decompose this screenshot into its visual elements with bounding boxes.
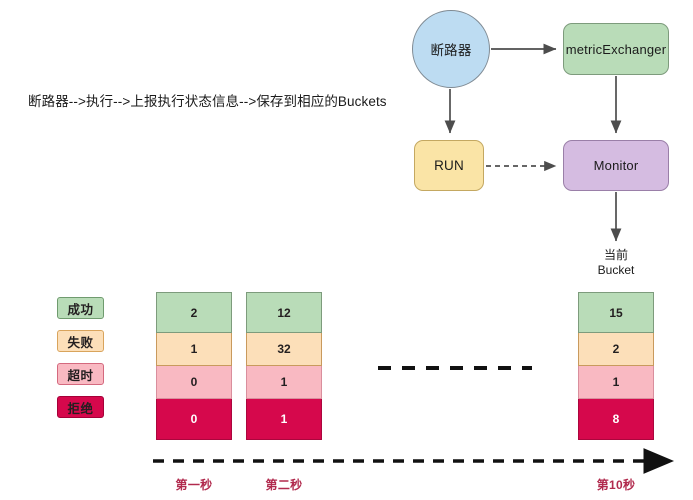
timeline-tick-label: 第一秒 bbox=[156, 476, 232, 493]
flow-caption: 断路器-->执行-->上报执行状态信息-->保存到相应的Buckets bbox=[28, 90, 387, 110]
current-bucket-line2: Bucket bbox=[578, 263, 654, 278]
node-monitor[interactable]: Monitor bbox=[563, 140, 669, 191]
bucket-column: 12 32 1 1 bbox=[246, 292, 322, 440]
timeline-tick-label: 第二秒 bbox=[246, 476, 322, 493]
legend: 成功 失败 超时 拒绝 bbox=[57, 297, 104, 429]
bucket-column: 15 2 1 8 bbox=[578, 292, 654, 440]
node-metric-exchanger[interactable]: metricExchanger bbox=[563, 23, 669, 75]
bucket-cell-timeout: 1 bbox=[246, 366, 322, 399]
bucket-cell-reject: 8 bbox=[578, 399, 654, 440]
bucket-cell-failure: 32 bbox=[246, 333, 322, 366]
legend-item-reject: 拒绝 bbox=[57, 396, 104, 418]
bucket-cell-success: 15 bbox=[578, 292, 654, 333]
bucket-cell-failure: 2 bbox=[578, 333, 654, 366]
legend-item-success: 成功 bbox=[57, 297, 104, 319]
current-bucket-line1: 当前 bbox=[578, 248, 654, 263]
diagram-canvas: Monitor (dashed) --> 断路器-->执行-->上报执行状态信息… bbox=[0, 0, 693, 500]
bucket-cell-reject: 1 bbox=[246, 399, 322, 440]
legend-item-failure: 失败 bbox=[57, 330, 104, 352]
bucket-cell-timeout: 1 bbox=[578, 366, 654, 399]
node-circuit-breaker[interactable]: 断路器 bbox=[412, 10, 490, 88]
bucket-cell-success: 12 bbox=[246, 292, 322, 333]
bucket-cell-reject: 0 bbox=[156, 399, 232, 440]
current-bucket-label: 当前 Bucket bbox=[578, 248, 654, 278]
legend-item-timeout: 超时 bbox=[57, 363, 104, 385]
bucket-column: 2 1 0 0 bbox=[156, 292, 232, 440]
bucket-cell-timeout: 0 bbox=[156, 366, 232, 399]
node-run[interactable]: RUN bbox=[414, 140, 484, 191]
bucket-cell-failure: 1 bbox=[156, 333, 232, 366]
bucket-cell-success: 2 bbox=[156, 292, 232, 333]
timeline-tick-label: 第10秒 bbox=[578, 476, 654, 493]
